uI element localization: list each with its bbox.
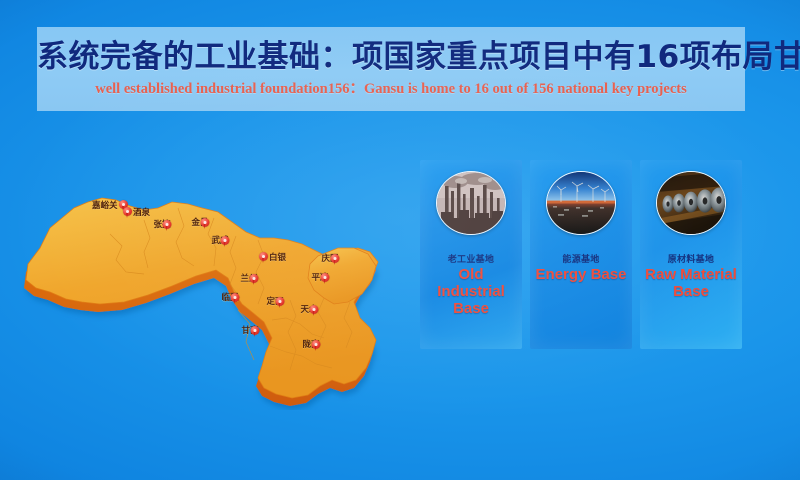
card-raw-material-base[interactable]: 原材料基地 Raw Material Base — [640, 160, 742, 349]
map-top-face — [26, 198, 378, 398]
card-old-industrial-base[interactable]: 老工业基地 Old Industrial Base — [420, 160, 522, 349]
page-title-chinese: 系统完备的工业基础：项国家重点项目中有16项布局甘肃 — [37, 31, 745, 76]
page-subtitle-english: well established industrial foundation15… — [37, 77, 745, 98]
industrial-plant-photo-icon — [436, 171, 506, 235]
wind-farm-photo-icon — [546, 171, 616, 235]
title-banner: 系统完备的工业基础：项国家重点项目中有16项布局甘肃 well establis… — [37, 27, 745, 111]
gansu-province-map: 嘉峪关 酒泉 张掖 金昌 武威 白银 — [18, 160, 408, 410]
card-label-chinese: 能源基地 — [530, 252, 632, 265]
card-label-english: Energy Base — [530, 266, 632, 283]
steel-coils-photo-icon — [656, 171, 726, 235]
card-label-english: Raw Material Base — [640, 266, 742, 300]
card-label-chinese: 原材料基地 — [640, 252, 742, 265]
industrial-base-cards: 老工业基地 Old Industrial Base — [420, 160, 742, 350]
map-shape — [18, 160, 408, 410]
card-energy-base[interactable]: 能源基地 Energy Base — [530, 160, 632, 349]
card-label-chinese: 老工业基地 — [420, 252, 522, 265]
presentation-slide: 系统完备的工业基础：项国家重点项目中有16项布局甘肃 well establis… — [0, 0, 800, 480]
card-label-english: Old Industrial Base — [420, 266, 522, 317]
